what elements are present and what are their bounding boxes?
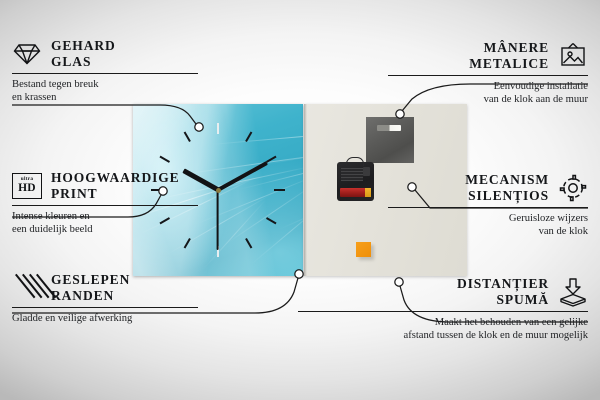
feature-distantier-spuma: DISTANȚIER SPUMĂ Maakt het behouden van … xyxy=(298,276,588,342)
mechanism-port xyxy=(363,167,370,176)
feature-hoogwaardige-print: ultra HD HOOGWAARDIGE PRINT Intense kleu… xyxy=(12,170,198,236)
feature-description: Intense kleuren en een duidelijk beeld xyxy=(12,210,198,236)
feature-manere-metalice: MÂNERE METALICE Eenvoudige installatie v… xyxy=(388,40,588,106)
hd-icon-hd-text: HD xyxy=(18,183,36,195)
metal-hanger-plate xyxy=(366,117,414,163)
feature-title: HOOGWAARDIGE PRINT xyxy=(51,170,180,201)
feature-divider xyxy=(298,311,588,312)
feature-heading: DISTANȚIER SPUMĂ xyxy=(298,276,588,307)
feature-heading: MECANISM SILENȚIOS xyxy=(388,172,588,203)
hanging-picture-frame-icon xyxy=(558,41,588,71)
feature-description: Bestand tegen breuk en krassen xyxy=(12,78,198,104)
infographic-canvas: GEHARD GLAS Bestand tegen breuk en krass… xyxy=(0,0,600,400)
feature-title: MÂNERE METALICE xyxy=(469,40,549,71)
mechanism-bail xyxy=(346,157,364,166)
feature-title: DISTANȚIER SPUMĂ xyxy=(457,276,549,307)
feature-description: Gladde en veilige afwerking xyxy=(12,312,198,325)
battery-positive-tip xyxy=(365,188,371,197)
panel-edge-shadow xyxy=(304,104,307,276)
mechanism-label xyxy=(341,168,363,181)
clock-mechanism xyxy=(337,162,374,201)
feature-divider xyxy=(12,307,198,308)
feature-heading: GEHARD GLAS xyxy=(12,38,198,69)
feature-divider xyxy=(12,73,198,74)
feature-mecanism-silentios: MECANISM SILENȚIOS Geruisloze wijzers va… xyxy=(388,172,588,238)
feature-divider xyxy=(388,75,588,76)
feature-heading: MÂNERE METALICE xyxy=(388,40,588,71)
hanger-keyhole-slot xyxy=(377,125,401,131)
feature-gehard-glas: GEHARD GLAS Bestand tegen breuk en krass… xyxy=(12,38,198,104)
press-down-arrow-icon xyxy=(558,277,588,307)
diamond-icon xyxy=(12,39,42,69)
clock-center-hub xyxy=(216,188,221,193)
feature-description: Maakt het behouden van een gelijke afsta… xyxy=(298,316,588,342)
feature-description: Geruisloze wijzers van de klok xyxy=(388,212,588,238)
clock-tick xyxy=(218,189,285,191)
clock-second-hand xyxy=(217,190,219,250)
feature-heading: ultra HD HOOGWAARDIGE PRINT xyxy=(12,170,198,201)
feature-description: Eenvoudige installatie van de klok aan d… xyxy=(388,80,588,106)
battery xyxy=(340,188,371,197)
clock-tick xyxy=(217,123,219,190)
feature-title: GESLEPEN RANDEN xyxy=(51,272,130,303)
bevel-lines-icon xyxy=(12,273,42,303)
foam-spacer xyxy=(356,242,371,257)
feature-geslepen-randen: GESLEPEN RANDEN Gladde en veilige afwerk… xyxy=(12,272,198,325)
gear-icon xyxy=(558,173,588,203)
feature-title: GEHARD GLAS xyxy=(51,38,116,69)
feature-title: MECANISM SILENȚIOS xyxy=(465,172,549,203)
feature-heading: GESLEPEN RANDEN xyxy=(12,272,198,303)
feature-divider xyxy=(12,205,198,206)
feature-divider xyxy=(388,207,588,208)
ultra-hd-icon: ultra HD xyxy=(12,171,42,201)
